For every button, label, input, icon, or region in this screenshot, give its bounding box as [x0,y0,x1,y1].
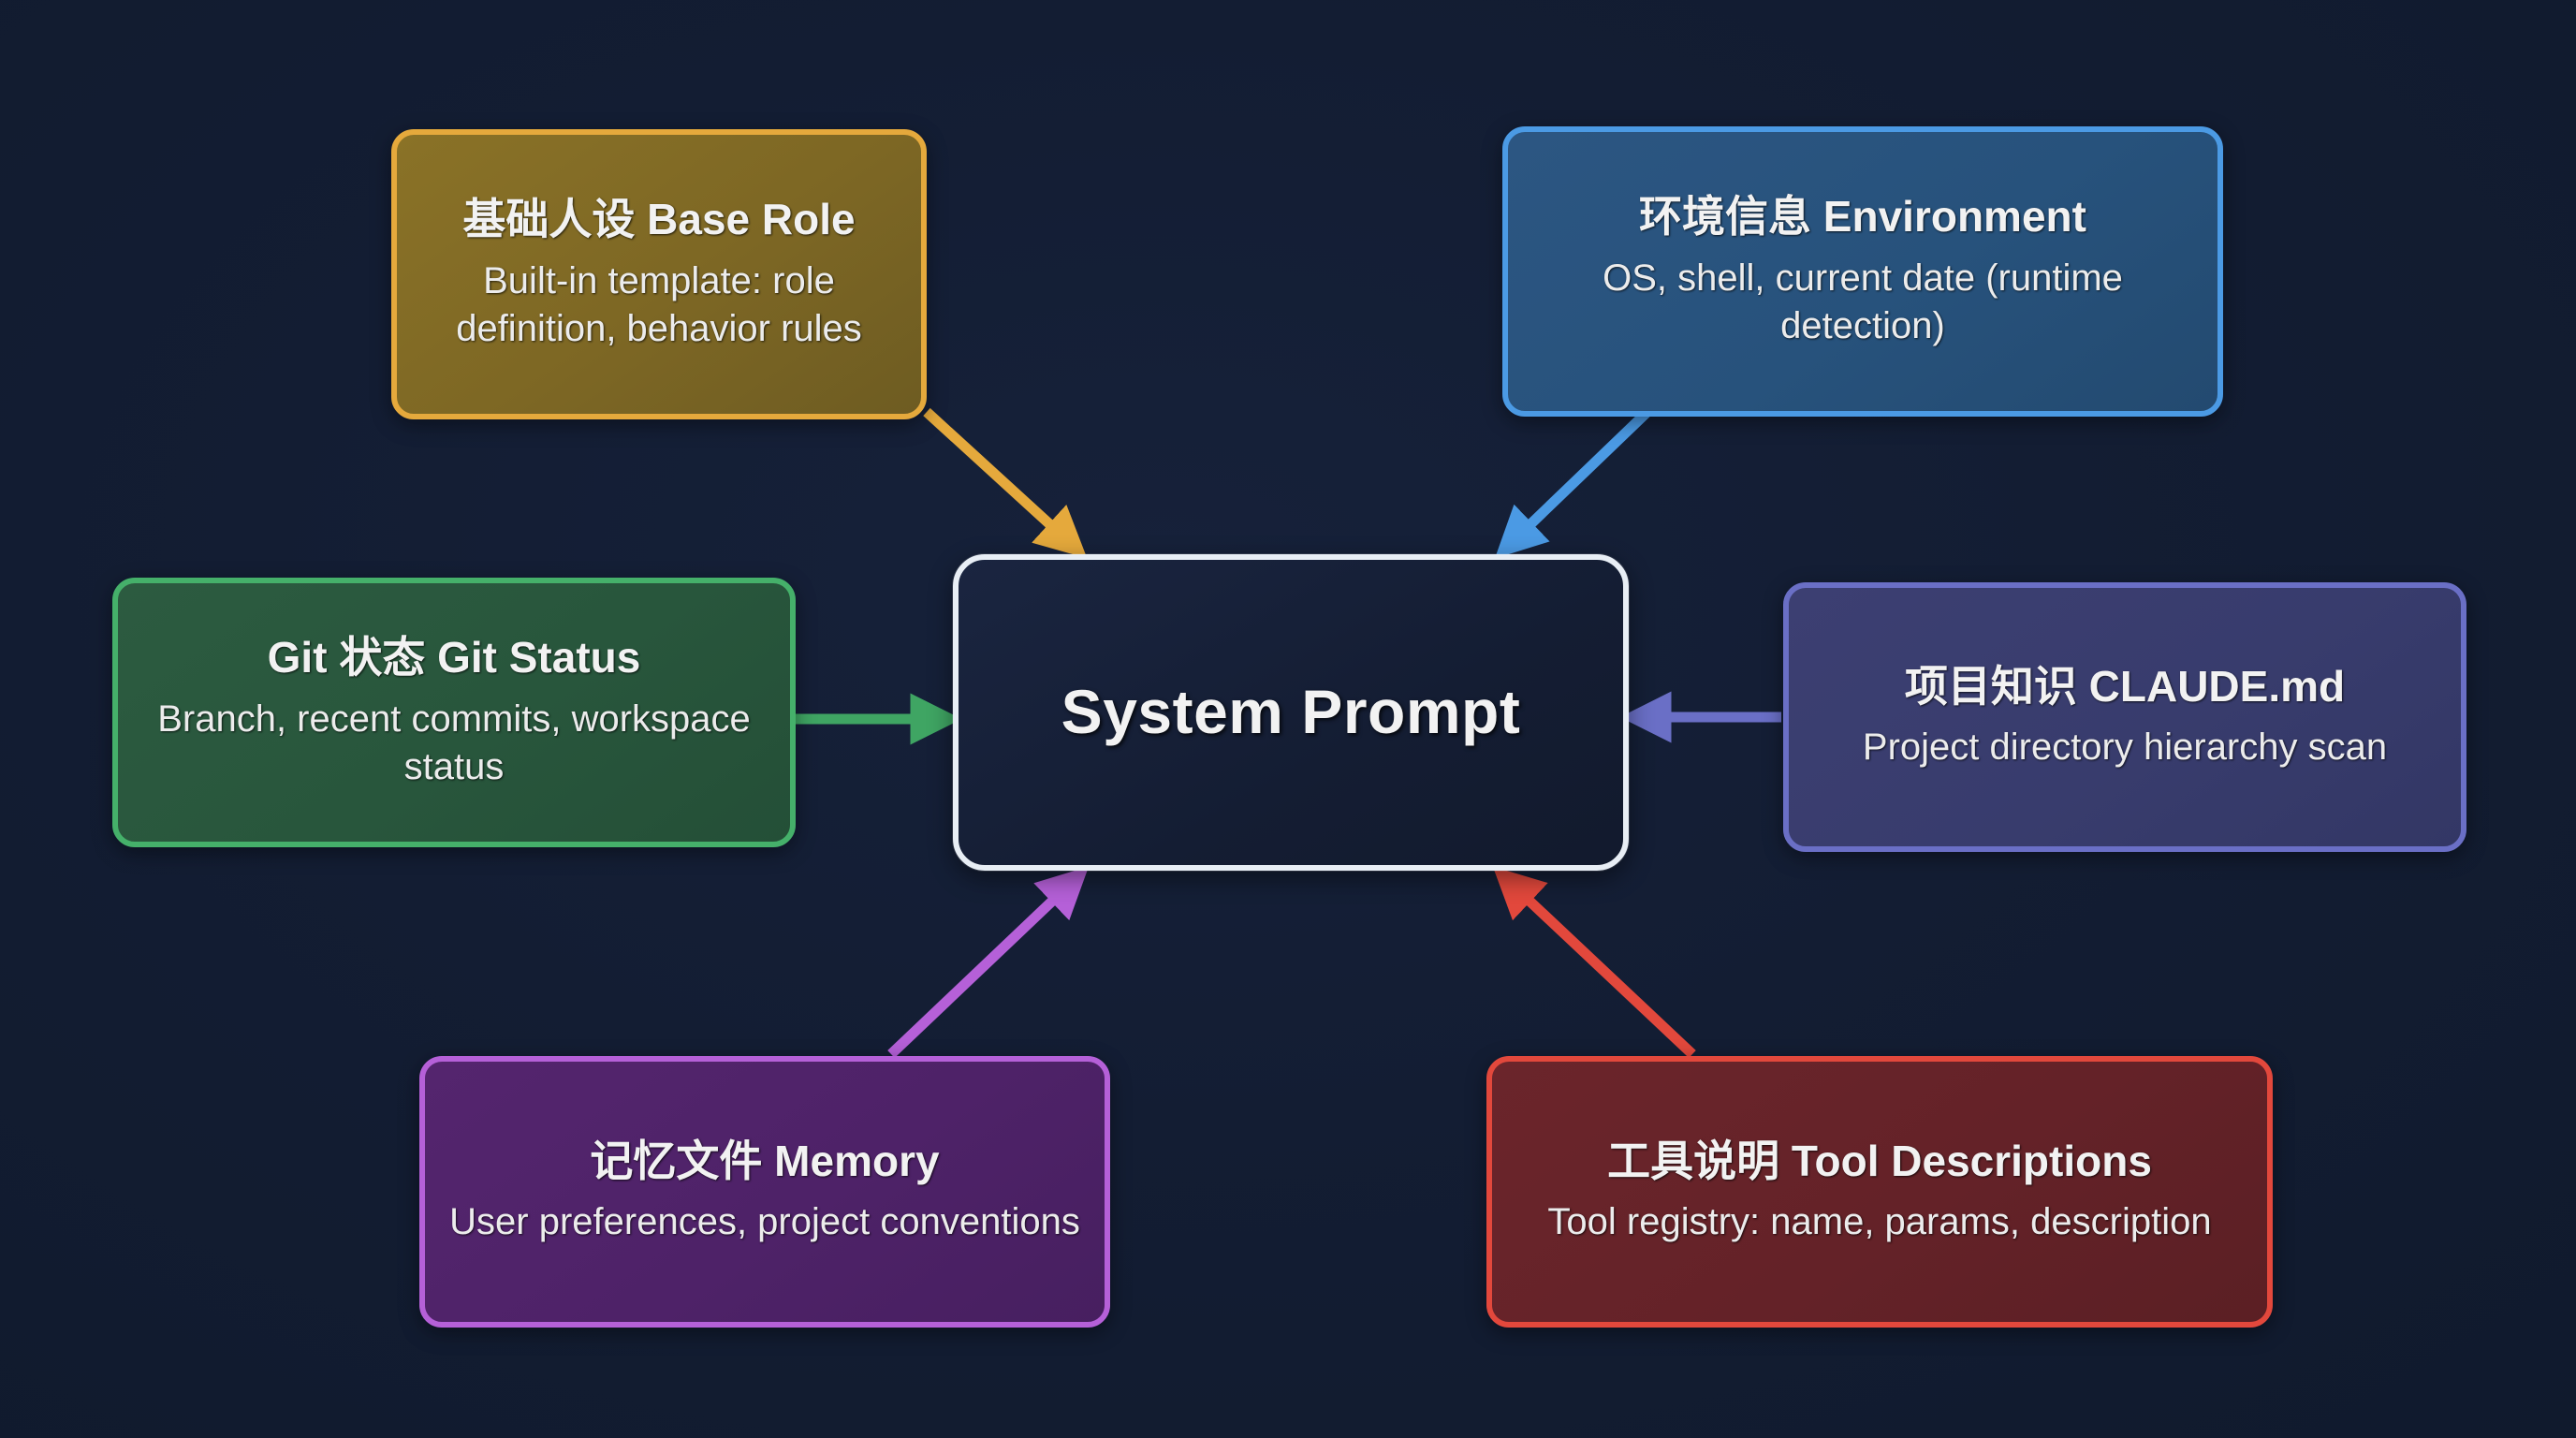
edge-base-role-to-center [927,412,1076,549]
node-git-status-description: Branch, recent commits, workspace status [139,696,769,791]
node-system-prompt-title: System Prompt [1061,678,1521,747]
edge-tool-descriptions-to-center [1503,876,1692,1054]
node-memory-description: User preferences, project conventions [449,1198,1080,1246]
edge-memory-to-center [891,876,1078,1054]
node-environment-description: OS, shell, current date (runtime detecti… [1529,255,2197,350]
node-claude-md-title: 项目知识 CLAUDE.md [1905,663,2345,712]
node-environment[interactable]: 环境信息 Environment OS, shell, current date… [1502,126,2223,417]
node-system-prompt[interactable]: System Prompt [953,554,1629,871]
node-claude-md[interactable]: 项目知识 CLAUDE.md Project directory hierarc… [1783,582,2466,852]
node-base-role[interactable]: 基础人设 Base Role Built-in template: role d… [391,129,927,419]
node-tool-descriptions-title: 工具说明 Tool Descriptions [1607,1137,2152,1186]
diagram-canvas: System Prompt 基础人设 Base Role Built-in te… [0,0,2576,1438]
node-memory-title: 记忆文件 Memory [590,1137,939,1186]
edge-environment-to-center [1505,410,1649,549]
node-tool-descriptions-description: Tool registry: name, params, description [1547,1198,2211,1246]
node-base-role-title: 基础人设 Base Role [462,196,855,244]
node-tool-descriptions[interactable]: 工具说明 Tool Descriptions Tool registry: na… [1486,1056,2273,1328]
node-environment-title: 环境信息 Environment [1639,193,2086,242]
node-git-status-title: Git 状态 Git Status [268,634,641,682]
node-claude-md-description: Project directory hierarchy scan [1863,724,2387,771]
node-git-status[interactable]: Git 状态 Git Status Branch, recent commits… [112,578,796,847]
node-base-role-description: Built-in template: role definition, beha… [417,257,900,353]
node-memory[interactable]: 记忆文件 Memory User preferences, project co… [419,1056,1110,1328]
